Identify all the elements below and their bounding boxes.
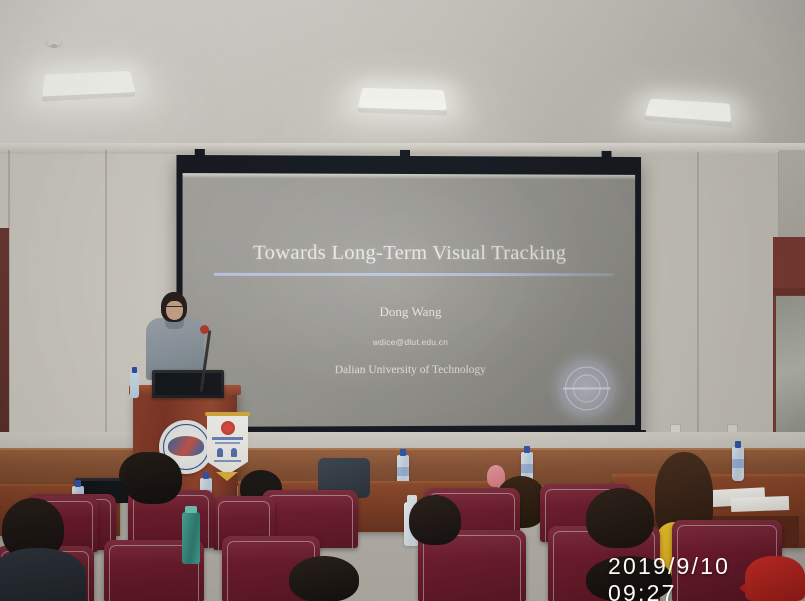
- presenter-laptop[interactable]: [152, 370, 224, 398]
- pennant-figure-glyph: [217, 448, 223, 457]
- laptop-screen: [155, 373, 221, 395]
- projection-screen-frame: Towards Long-Term Visual Tracking Dong W…: [176, 155, 641, 441]
- audience-head: [124, 452, 182, 504]
- wall-seam: [105, 150, 107, 475]
- pennant-text-line: [214, 460, 241, 462]
- window-mullion: [773, 288, 805, 295]
- camera-timestamp: 2019/9/10 09:27: [608, 553, 805, 601]
- projected-slide: Towards Long-Term Visual Tracking Dong W…: [183, 173, 636, 427]
- slide-content: Towards Long-Term Visual Tracking Dong W…: [183, 173, 636, 427]
- lecture-hall-photo: Towards Long-Term Visual Tracking Dong W…: [0, 0, 805, 601]
- university-seal-icon: [558, 360, 615, 418]
- screen-mount-bracket: [195, 149, 205, 156]
- audience-shoulders: [0, 548, 86, 601]
- audience-head: [289, 556, 359, 601]
- ceiling-light-panel: [358, 88, 447, 110]
- seal-crossbar: [563, 387, 610, 390]
- pennant-rod: [205, 412, 250, 416]
- right-window-glass: [776, 296, 805, 446]
- microphone-indicator-light: [200, 325, 209, 334]
- screen-mount-bracket: [400, 150, 410, 157]
- water-bottle: [130, 372, 139, 398]
- ceiling-light-panel: [42, 71, 135, 96]
- screen-mount-bracket: [602, 151, 612, 158]
- smoke-detector-icon: [47, 37, 61, 46]
- papers-on-desk: [731, 496, 789, 512]
- slide-author: Dong Wang: [183, 304, 636, 320]
- audience-head: [586, 488, 654, 548]
- green-water-bottle: [182, 512, 200, 564]
- slide-title-rule: [214, 273, 613, 276]
- presenter-head: [161, 292, 187, 322]
- pennant-text-line: [215, 442, 240, 444]
- pennant-figure-glyph: [231, 448, 237, 457]
- water-bottle: [732, 447, 744, 481]
- pennant-text-line: [212, 437, 243, 440]
- glasses-icon: [166, 306, 183, 311]
- slide-title: Towards Long-Term Visual Tracking: [183, 242, 636, 266]
- pennant-logo-icon: [221, 421, 235, 435]
- slide-email: wdice@dlut.edu.cn: [183, 337, 636, 348]
- audience-head: [409, 495, 461, 545]
- wall-seam: [697, 152, 699, 452]
